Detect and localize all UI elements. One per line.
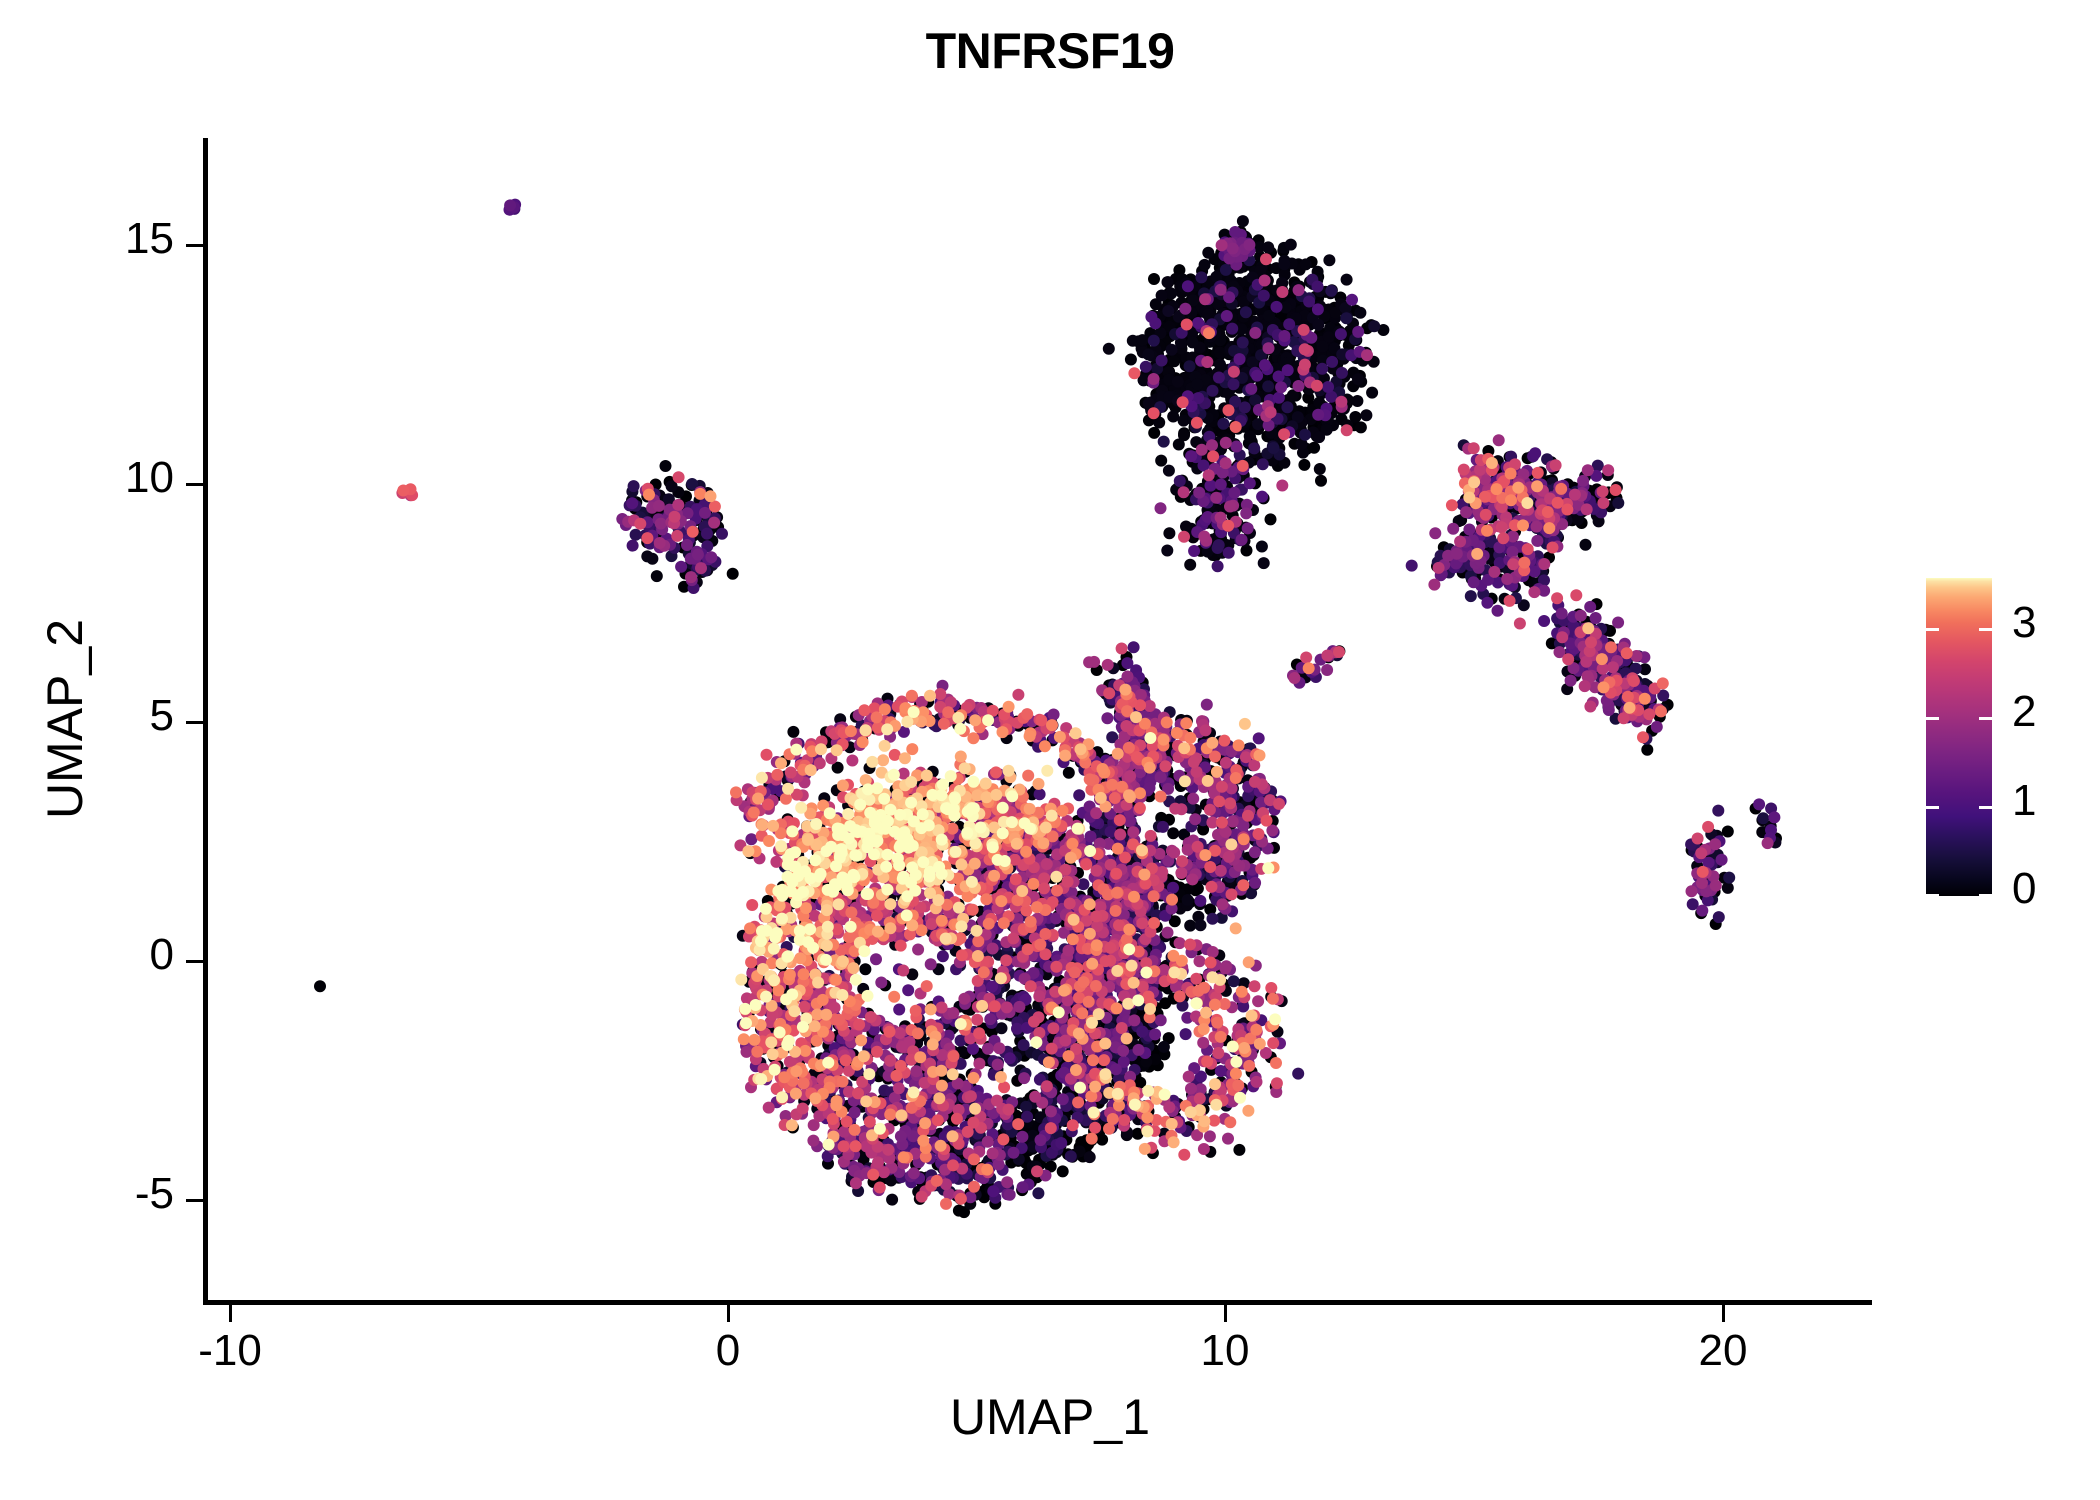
y-tick-mark bbox=[186, 244, 203, 247]
y-axis-label: UMAP_2 bbox=[36, 319, 94, 1119]
x-tick-label: 20 bbox=[1623, 1326, 1823, 1376]
x-tick-mark bbox=[229, 1305, 232, 1322]
colorbar-tick-label: 3 bbox=[2012, 598, 2036, 648]
y-tick-mark bbox=[186, 960, 203, 963]
colorbar-tick-label: 2 bbox=[2012, 687, 2036, 737]
page-title: TNFRSF19 bbox=[0, 22, 2100, 80]
x-axis-label: UMAP_1 bbox=[0, 1388, 2100, 1446]
colorbar-tick bbox=[1979, 717, 1992, 720]
x-tick-label: -10 bbox=[130, 1326, 330, 1376]
colorbar-gradient bbox=[1926, 578, 1992, 896]
scatter-points-layer bbox=[205, 138, 1872, 1302]
x-tick-label: 10 bbox=[1125, 1326, 1325, 1376]
x-tick-mark bbox=[1722, 1305, 1725, 1322]
x-tick-label: 0 bbox=[628, 1326, 828, 1376]
colorbar-tick bbox=[1926, 894, 1939, 897]
colorbar-tick bbox=[1926, 628, 1939, 631]
y-tick-label: -5 bbox=[14, 1169, 174, 1219]
y-tick-mark bbox=[186, 1199, 203, 1202]
x-tick-mark bbox=[1224, 1305, 1227, 1322]
colorbar-tick bbox=[1926, 806, 1939, 809]
chart-root: TNFRSF19 -10 0 10 20 15 10 5 0 -5 UMAP_1… bbox=[0, 0, 2100, 1500]
colorbar-tick-label: 0 bbox=[2012, 864, 2036, 914]
colorbar-legend[interactable] bbox=[1926, 578, 1992, 896]
x-tick-mark bbox=[727, 1305, 730, 1322]
plot-panel bbox=[205, 138, 1872, 1302]
colorbar-tick-label: 1 bbox=[2012, 776, 2036, 826]
y-tick-mark bbox=[186, 721, 203, 724]
y-tick-mark bbox=[186, 483, 203, 486]
colorbar-tick bbox=[1926, 717, 1939, 720]
colorbar-tick bbox=[1979, 894, 1992, 897]
y-tick-label: 15 bbox=[14, 214, 174, 264]
colorbar-tick bbox=[1979, 806, 1992, 809]
colorbar-tick bbox=[1979, 628, 1992, 631]
